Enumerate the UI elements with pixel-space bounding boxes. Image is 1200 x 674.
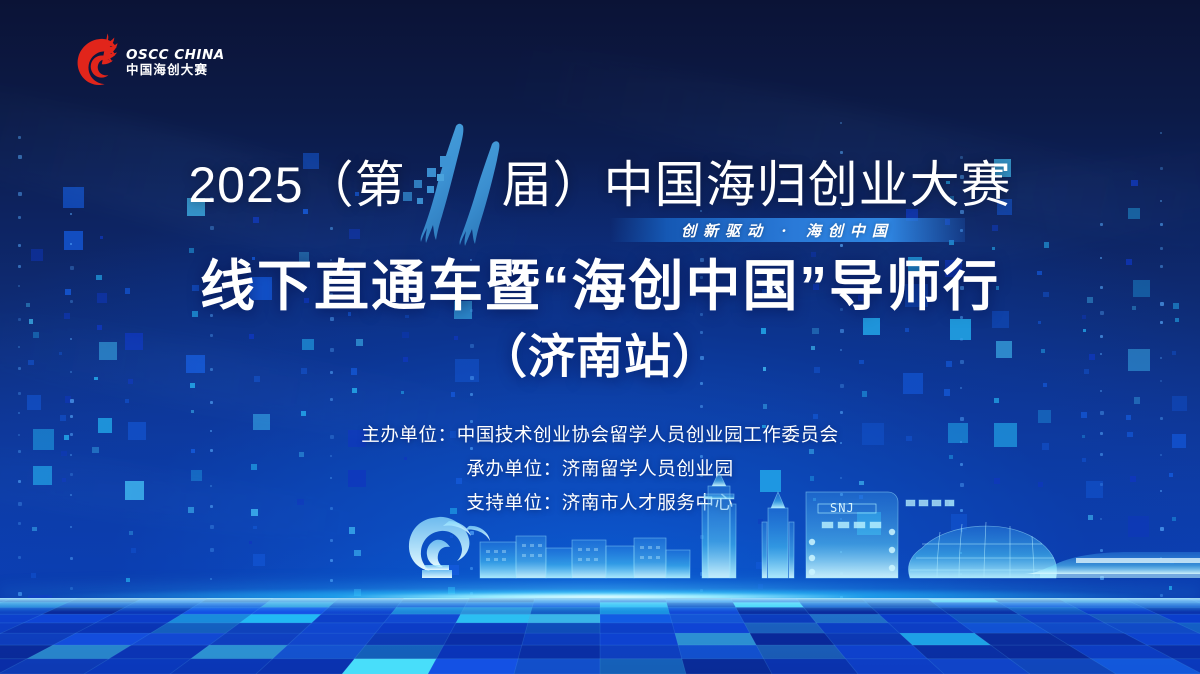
floor-tile [600, 623, 675, 633]
floor-tile [846, 659, 944, 674]
decorative-square [992, 247, 995, 250]
flame-phoenix-mark-icon [66, 28, 128, 88]
floor-tile [428, 659, 518, 674]
decorative-square [1172, 396, 1187, 411]
decorative-square [401, 391, 404, 394]
decorative-dot [18, 244, 21, 247]
floor-tile [825, 633, 913, 645]
decorative-dot [840, 384, 844, 388]
floor-tile [670, 614, 744, 623]
floor-tile [672, 623, 750, 633]
decorative-square [29, 319, 34, 324]
floor-tile [514, 659, 600, 674]
floor-tile [600, 645, 682, 659]
floor-tile [756, 645, 845, 659]
floor-top-glow [0, 598, 1200, 612]
event-logo: OSCC CHINA 中国海创大赛 [66, 28, 211, 90]
decorative-square [992, 225, 998, 231]
decorative-square [125, 399, 129, 403]
floor-tile [444, 633, 525, 645]
decorative-square [349, 229, 359, 239]
headline-line-1: 线下直通车暨“海创中国”导师行 [0, 258, 1200, 314]
floor-tile [750, 633, 835, 645]
floor-tile [528, 614, 600, 623]
decorative-square [994, 398, 1000, 404]
logo-text-block: OSCC CHINA 中国海创大赛 [126, 48, 214, 79]
decorative-dot [18, 318, 21, 321]
decorative-dot [18, 136, 21, 139]
floor-tile [739, 614, 816, 623]
decorative-dot [1100, 411, 1104, 415]
floor-tile [834, 645, 927, 659]
floor-tile [816, 623, 899, 633]
decorative-square [1038, 321, 1041, 324]
floor-tile [678, 645, 764, 659]
decorative-dot [210, 401, 213, 404]
floor-tile [600, 633, 678, 645]
decorative-dot [1100, 390, 1102, 392]
decorative-square [189, 248, 194, 253]
decorative-dot [1160, 132, 1162, 134]
floor-tile [273, 645, 366, 659]
decorative-square [451, 392, 456, 397]
decorative-dot [1160, 223, 1163, 226]
floor-tile [384, 614, 461, 623]
floor-tile [366, 633, 451, 645]
floor-tile [522, 633, 600, 645]
decorative-dot [470, 393, 473, 396]
decorative-square [1134, 397, 1141, 404]
floor-tile [764, 659, 858, 674]
floor-tile [375, 623, 455, 633]
arena-building [909, 522, 1057, 578]
floor-tile [354, 645, 443, 659]
floor-tile [600, 659, 686, 674]
decorative-square [301, 411, 306, 416]
jinan-spring-sculpture [409, 517, 490, 578]
ordinal-seven-brush-graphic-icon [400, 110, 508, 260]
decorative-square [190, 383, 195, 388]
floor-tile [518, 645, 600, 659]
floor-tile [888, 623, 974, 633]
decorative-square [1081, 412, 1087, 418]
main-title-row: 2025（第 [0, 150, 1200, 220]
decorative-dot [1160, 321, 1163, 324]
floor-tile [744, 623, 824, 633]
floor-tile [809, 614, 888, 623]
decorative-square [64, 231, 83, 250]
decorative-dot [960, 387, 962, 389]
decorative-dot [330, 398, 333, 401]
floor-tile [600, 614, 672, 623]
slogan-text: 创新驱动 · 海创中国 [610, 218, 965, 242]
decorative-square [1082, 315, 1086, 319]
logo-english-text: OSCC CHINA [126, 48, 214, 62]
organizer-host: 主办单位：中国技术创业协会留学人员创业园工作委员会 [0, 418, 1200, 452]
perspective-grid-floor [0, 598, 1200, 674]
decorative-square [352, 388, 357, 393]
floor-tile [682, 659, 772, 674]
decorative-square [97, 325, 102, 330]
decorative-square [100, 236, 103, 239]
floor-tile [300, 623, 383, 633]
floor-tile [226, 623, 312, 633]
floor-tile [256, 659, 354, 674]
decorative-dot [840, 411, 843, 414]
decorative-square [1043, 383, 1048, 388]
floor-tile [450, 623, 528, 633]
decorative-dot [700, 405, 703, 408]
decorative-square [905, 328, 909, 332]
logo-chinese-text: 中国海创大赛 [126, 63, 214, 79]
floor-tile [342, 659, 436, 674]
floor-tile [436, 645, 522, 659]
decorative-dot [70, 399, 74, 403]
floor-tile [879, 614, 960, 623]
decorative-square [27, 395, 41, 409]
floor-tile [312, 614, 391, 623]
poster-canvas: OSCC CHINA 中国海创大赛 2025（第 [0, 0, 1200, 674]
floor-tile [456, 614, 530, 623]
floor-tile [240, 614, 321, 623]
decorative-dot [840, 244, 843, 247]
decorative-dot [330, 227, 333, 230]
snj-building-sign: SNJ [830, 501, 855, 515]
decorative-dot [18, 412, 20, 414]
decorative-dot [840, 122, 842, 124]
decorative-square [1044, 242, 1050, 248]
decorative-square [1175, 318, 1180, 323]
decorative-square [763, 404, 767, 408]
decorative-dot [210, 226, 214, 230]
decorative-square [944, 389, 950, 395]
title-year-prefix: 2025（第 [188, 160, 405, 210]
decorative-dot [18, 392, 21, 395]
decorative-dot [330, 317, 334, 321]
floor-tile [287, 633, 375, 645]
floor-tile [675, 633, 756, 645]
floor-tile [525, 623, 600, 633]
title-main-text: 届）中国海归创业大赛 [502, 160, 1012, 210]
decorative-dot [1100, 223, 1103, 226]
decorative-square [862, 391, 868, 397]
decorative-square [191, 410, 195, 414]
headline-line-2-city: （济南站） [0, 332, 1200, 381]
decorative-dot [1160, 247, 1163, 250]
